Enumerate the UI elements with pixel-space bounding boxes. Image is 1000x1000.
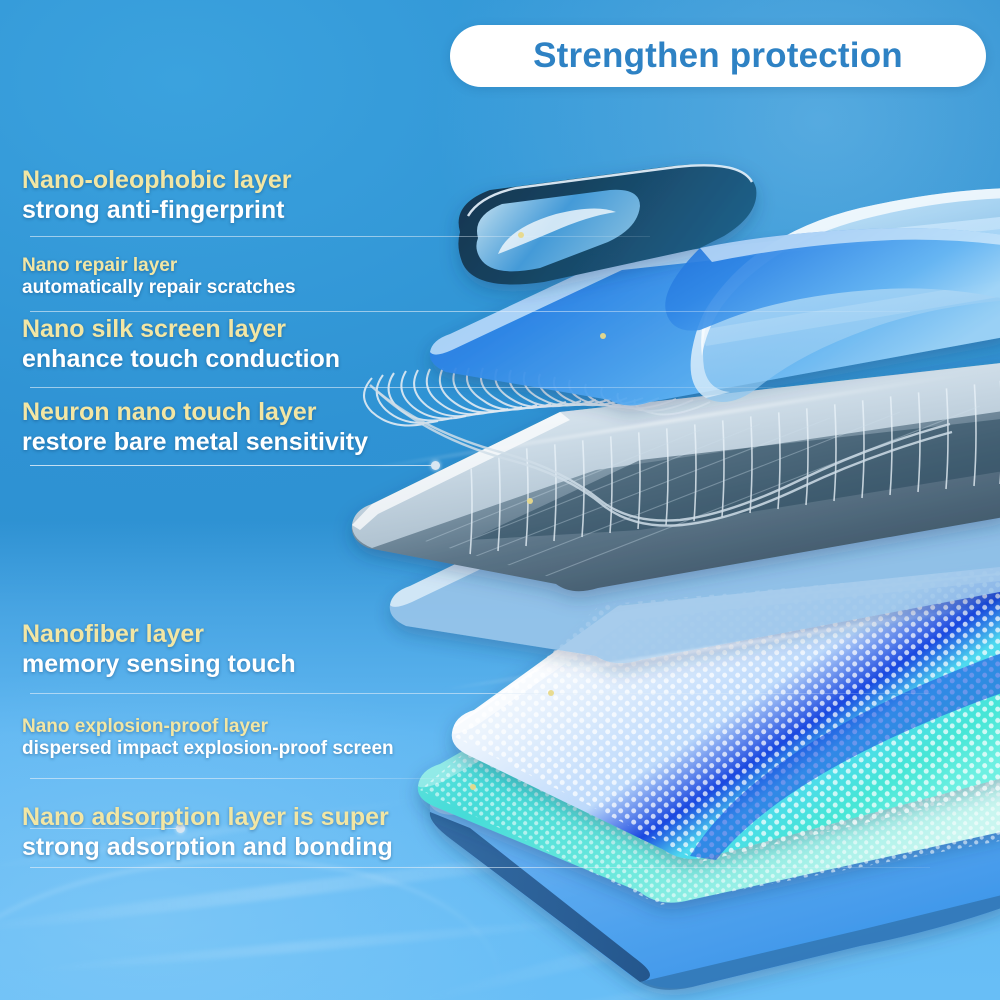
layer-heading: Nano adsorption layer is super <box>22 803 393 833</box>
layer-description: dispersed impact explosion-proof screen <box>22 738 394 760</box>
layer-description: strong anti-fingerprint <box>22 196 291 226</box>
infographic-canvas: Strengthen protection Nano-oleophobic la… <box>0 0 1000 1000</box>
layer-heading: Nanofiber layer <box>22 620 296 650</box>
layer-description: enhance touch conduction <box>22 345 340 375</box>
label-divider <box>30 311 910 312</box>
page-title: Strengthen protection <box>533 36 903 76</box>
layer-description: strong adsorption and bonding <box>22 833 393 863</box>
layer-label-neuron-nano-touch: Neuron nano touch layerrestore bare meta… <box>22 398 368 457</box>
layer-heading: Nano-oleophobic layer <box>22 166 291 196</box>
layer-description: memory sensing touch <box>22 650 296 680</box>
layer-label-nano-oleophobic: Nano-oleophobic layerstrong anti-fingerp… <box>22 166 291 225</box>
label-divider <box>30 236 650 237</box>
layer-label-nano-repair: Nano repair layerautomatically repair sc… <box>22 255 296 300</box>
layer-label-nano-silk-screen: Nano silk screen layerenhance touch cond… <box>22 315 340 374</box>
label-divider <box>30 867 930 868</box>
leader-dot <box>431 461 440 470</box>
layer-heading: Nano repair layer <box>22 255 296 277</box>
layer-heading: Neuron nano touch layer <box>22 398 368 428</box>
label-divider <box>30 778 450 779</box>
layer-heading: Nano silk screen layer <box>22 315 340 345</box>
layer-connector-dot <box>470 784 476 790</box>
layer-label-nanofiber: Nanofiber layermemory sensing touch <box>22 620 296 679</box>
layer-connector-dot <box>518 232 524 238</box>
layer-description: restore bare metal sensitivity <box>22 428 368 458</box>
label-divider <box>30 693 930 694</box>
layer-connector-dot <box>548 690 554 696</box>
layer-heading: Nano explosion-proof layer <box>22 716 394 738</box>
page-title-pill: Strengthen protection <box>450 25 986 87</box>
layer-connector-dot <box>527 498 533 504</box>
layer-connector-dot <box>600 333 606 339</box>
label-divider <box>30 387 790 388</box>
layer-label-nano-adsorption: Nano adsorption layer is superstrong ads… <box>22 803 393 862</box>
leader-line <box>30 465 435 466</box>
layer-description: automatically repair scratches <box>22 277 296 299</box>
layer-label-nano-explosion-proof: Nano explosion-proof layerdispersed impa… <box>22 716 394 761</box>
